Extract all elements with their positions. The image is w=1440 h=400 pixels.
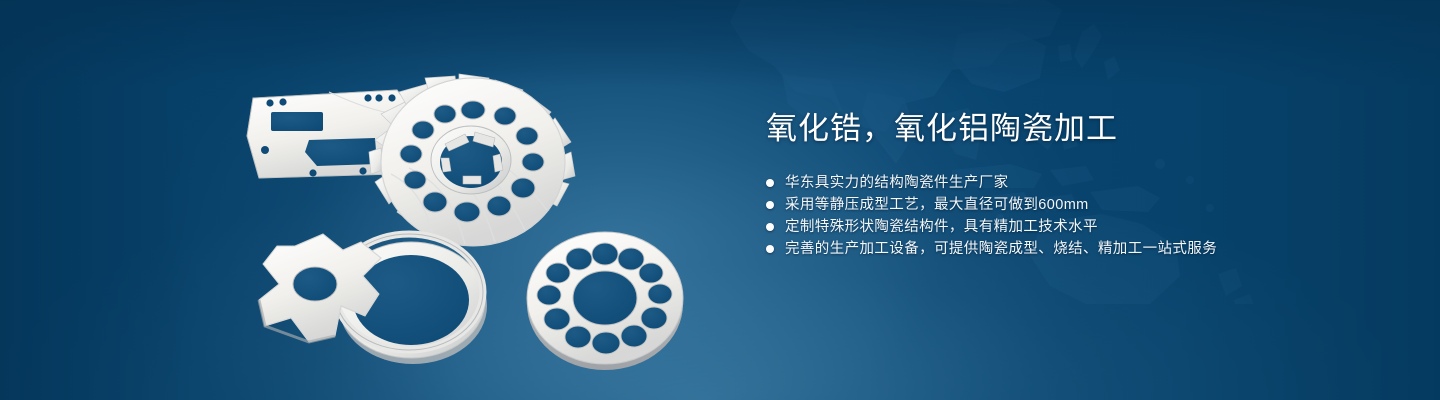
ceramic-products-image	[225, 40, 725, 380]
list-item-label: 完善的生产加工设备，可提供陶瓷成型、烧结、精加工一站式服务	[785, 238, 1217, 260]
bullet-dot-icon	[766, 201, 774, 209]
list-item: 定制特殊形状陶瓷结构件，具有精加工技术水平	[766, 216, 1386, 238]
bullet-dot-icon	[766, 179, 774, 187]
list-item: 采用等静压成型工艺，最大直径可做到600mm	[766, 194, 1386, 216]
ceramic-hole-ring-plate	[527, 232, 683, 370]
banner-copy: 氧化锆，氧化铝陶瓷加工 华东具实力的结构陶瓷件生产厂家 采用等静压成型工艺，最大…	[766, 108, 1386, 260]
page-title: 氧化锆，氧化铝陶瓷加工	[766, 108, 1386, 150]
bullet-dot-icon	[766, 223, 774, 231]
feature-list: 华东具实力的结构陶瓷件生产厂家 采用等静压成型工艺，最大直径可做到600mm 定…	[766, 172, 1386, 260]
bullet-dot-icon	[766, 245, 774, 253]
list-item-label: 定制特殊形状陶瓷结构件，具有精加工技术水平	[785, 216, 1098, 238]
ceramic-processing-banner: 氧化锆，氧化铝陶瓷加工 华东具实力的结构陶瓷件生产厂家 采用等静压成型工艺，最大…	[0, 0, 1440, 400]
list-item-label: 华东具实力的结构陶瓷件生产厂家	[785, 172, 1009, 194]
list-item-label: 采用等静压成型工艺，最大直径可做到600mm	[785, 194, 1089, 216]
list-item: 华东具实力的结构陶瓷件生产厂家	[766, 172, 1386, 194]
list-item: 完善的生产加工设备，可提供陶瓷成型、烧结、精加工一站式服务	[766, 238, 1386, 260]
